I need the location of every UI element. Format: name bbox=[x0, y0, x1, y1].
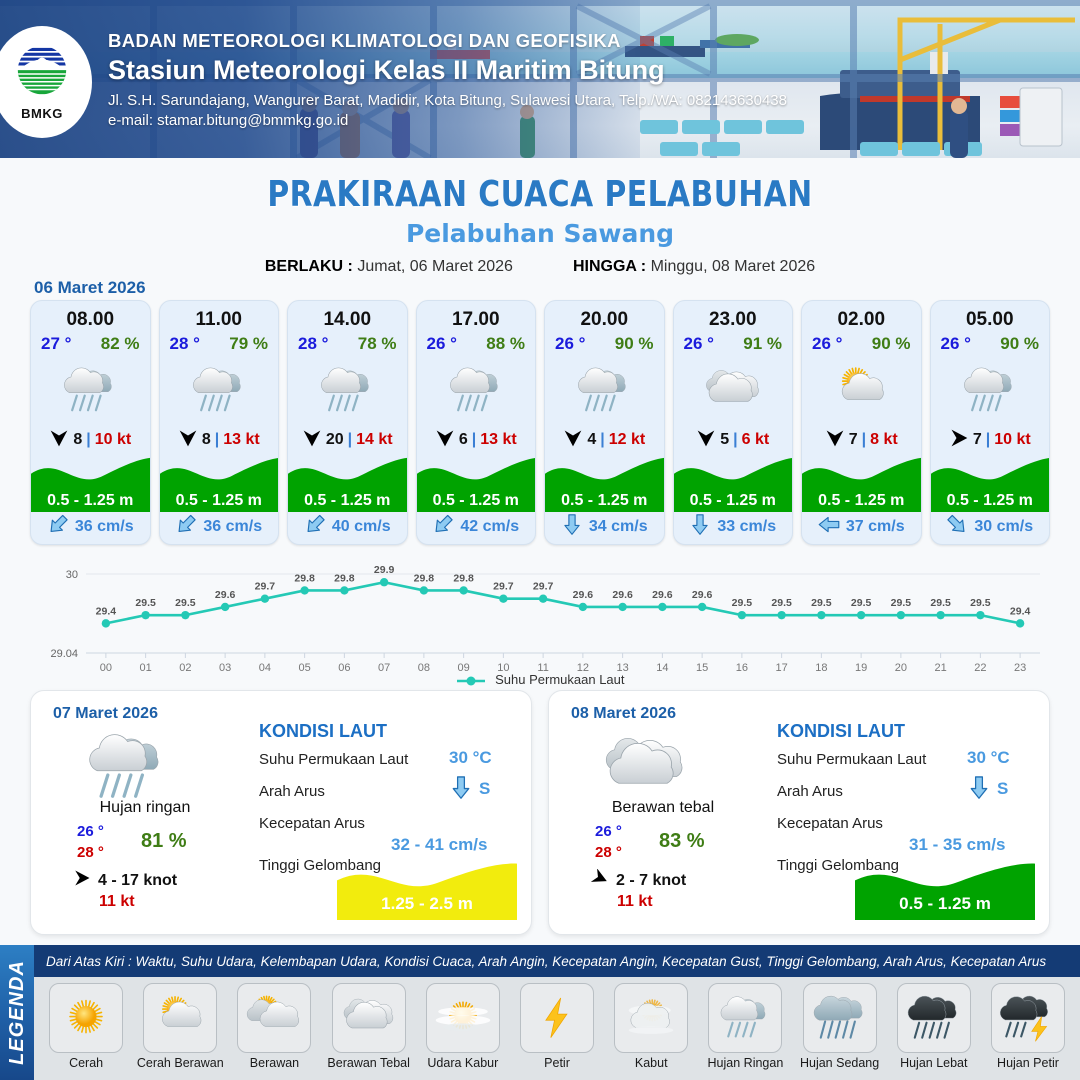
current-direction-arrow-icon bbox=[946, 513, 968, 541]
card-time: 20.00 bbox=[545, 309, 664, 331]
hourly-card: 11.00 28 ° 79 % 8 | 13 kt 0.5 - 1.25 m 3… bbox=[159, 300, 280, 545]
current-direction-arrow-icon bbox=[304, 513, 326, 541]
card-time: 02.00 bbox=[802, 309, 921, 331]
wind-direction-arrow-icon bbox=[73, 869, 91, 892]
card-humidity: 79 % bbox=[229, 334, 268, 354]
card-current-row: 36 cm/s bbox=[160, 512, 279, 542]
card-wind-separator: | bbox=[862, 431, 866, 449]
card-wind-row: 7 | 10 kt bbox=[931, 427, 1050, 453]
svg-text:29.5: 29.5 bbox=[175, 597, 196, 609]
card-temperature: 28 ° bbox=[298, 334, 328, 354]
panel-sst-label: Suhu Permukaan Laut bbox=[259, 751, 408, 768]
card-wave-height: 0.5 - 1.25 m bbox=[31, 492, 150, 510]
card-humidity: 78 % bbox=[358, 334, 397, 354]
card-weather-icon bbox=[802, 356, 921, 424]
svg-text:29.6: 29.6 bbox=[573, 589, 594, 601]
bmkg-logo-mark bbox=[13, 43, 71, 105]
legend-item-label: Kabut bbox=[635, 1056, 668, 1070]
svg-text:29.7: 29.7 bbox=[533, 581, 554, 593]
panel-temp-min: 26 ° bbox=[77, 823, 104, 840]
card-wind-row: 8 | 13 kt bbox=[160, 427, 279, 453]
page-header: BMKG BADAN METEOROLOGI KLIMATOLOGI DAN G… bbox=[0, 0, 1080, 158]
card-current-speed: 37 cm/s bbox=[846, 518, 905, 536]
panel-humidity: 83 % bbox=[659, 830, 705, 853]
hourly-date-label: 06 Maret 2026 bbox=[34, 278, 146, 298]
panel-current-speed-label: Kecepatan Arus bbox=[777, 815, 883, 832]
legend-section: LEGENDA Dari Atas Kiri : Waktu, Suhu Uda… bbox=[0, 945, 1080, 1080]
legend-item-label: Udara Kabur bbox=[427, 1056, 498, 1070]
wind-direction-arrow-icon bbox=[949, 428, 969, 453]
card-temperature: 26 ° bbox=[555, 334, 585, 354]
panel-sea-title: KONDISI LAUT bbox=[777, 721, 905, 742]
card-wave-height: 0.5 - 1.25 m bbox=[545, 492, 664, 510]
card-current-speed: 42 cm/s bbox=[460, 518, 519, 536]
current-direction-arrow-icon bbox=[47, 513, 69, 541]
svg-text:29.8: 29.8 bbox=[294, 572, 315, 584]
berlaku-group: BERLAKU : Jumat, 06 Maret 2026 bbox=[265, 258, 513, 276]
legend-icon-box bbox=[426, 983, 500, 1053]
panel-current-dir-value: S bbox=[479, 779, 490, 799]
card-current-row: 34 cm/s bbox=[545, 512, 664, 542]
legend-icon-box bbox=[897, 983, 971, 1053]
svg-text:29.5: 29.5 bbox=[135, 597, 156, 609]
legend-item-label: Cerah Berawan bbox=[137, 1056, 224, 1070]
panel-gust-speed: 11 kt bbox=[617, 893, 653, 911]
legend-line-icon bbox=[456, 675, 486, 687]
legend-item-label: Berawan bbox=[250, 1056, 299, 1070]
wind-direction-arrow-icon bbox=[591, 869, 609, 892]
card-wave-height: 0.5 - 1.25 m bbox=[417, 492, 536, 510]
svg-text:29.6: 29.6 bbox=[612, 589, 633, 601]
wind-direction-arrow-icon bbox=[696, 428, 716, 453]
legend-icon-box bbox=[614, 983, 688, 1053]
hourly-card: 17.00 26 ° 88 % 6 | 13 kt 0.5 - 1.25 m 4… bbox=[416, 300, 537, 545]
card-time: 23.00 bbox=[674, 309, 793, 331]
card-wave-height: 0.5 - 1.25 m bbox=[802, 492, 921, 510]
svg-text:29.5: 29.5 bbox=[811, 597, 832, 609]
card-wind-direction: 8 bbox=[202, 431, 211, 449]
legend-item-label: Hujan Lebat bbox=[900, 1056, 967, 1070]
card-temperature: 26 ° bbox=[684, 334, 714, 354]
legend-item: Hujan Lebat bbox=[890, 983, 978, 1070]
card-time: 05.00 bbox=[931, 309, 1050, 331]
card-gust-speed: 10 kt bbox=[95, 431, 131, 449]
legend-item: Berawan Tebal bbox=[325, 983, 413, 1070]
card-weather-icon bbox=[545, 356, 664, 424]
chart-legend-label: Suhu Permukaan Laut bbox=[495, 672, 624, 687]
legend-item: Hujan Petir bbox=[984, 983, 1072, 1070]
svg-text:29.5: 29.5 bbox=[970, 597, 991, 609]
wind-direction-arrow-icon bbox=[49, 428, 69, 453]
card-weather-icon bbox=[160, 356, 279, 424]
chart-legend: Suhu Permukaan Laut bbox=[0, 672, 1080, 687]
page-title-block: PRAKIRAAN CUACA PELABUHAN Pelabuhan Sawa… bbox=[0, 174, 1080, 276]
panel-sst-value: 30 °C bbox=[967, 748, 1010, 768]
panel-sst-label: Suhu Permukaan Laut bbox=[777, 751, 926, 768]
card-weather-icon bbox=[417, 356, 536, 424]
card-humidity: 88 % bbox=[486, 334, 525, 354]
card-current-speed: 30 cm/s bbox=[974, 518, 1033, 536]
legend-item: Cerah Berawan bbox=[136, 983, 224, 1070]
card-wind-row: 20 | 14 kt bbox=[288, 427, 407, 453]
card-wind-row: 6 | 13 kt bbox=[417, 427, 536, 453]
card-wind-direction: 8 bbox=[73, 431, 82, 449]
card-temperature: 26 ° bbox=[941, 334, 971, 354]
current-direction-arrow-icon bbox=[432, 513, 454, 541]
card-current-speed: 34 cm/s bbox=[589, 518, 648, 536]
card-wind-separator: | bbox=[472, 431, 476, 449]
panel-sea-title: KONDISI LAUT bbox=[259, 721, 387, 742]
card-humidity: 90 % bbox=[1000, 334, 1039, 354]
legend-item: Kabut bbox=[607, 983, 695, 1070]
card-wind-direction: 6 bbox=[459, 431, 468, 449]
wind-direction-arrow-icon bbox=[435, 428, 455, 453]
legend-item: Berawan bbox=[230, 983, 318, 1070]
panel-current-dir-label: Arah Arus bbox=[259, 783, 325, 800]
card-gust-speed: 13 kt bbox=[480, 431, 516, 449]
svg-text:29.6: 29.6 bbox=[652, 589, 673, 601]
wind-direction-arrow-icon bbox=[302, 428, 322, 453]
svg-text:29.7: 29.7 bbox=[255, 581, 276, 593]
legend-item-label: Cerah bbox=[69, 1056, 103, 1070]
hingga-value: Minggu, 08 Maret 2026 bbox=[651, 258, 816, 275]
card-current-row: 33 cm/s bbox=[674, 512, 793, 542]
card-gust-speed: 8 kt bbox=[870, 431, 898, 449]
hourly-card: 20.00 26 ° 90 % 4 | 12 kt 0.5 - 1.25 m 3… bbox=[544, 300, 665, 545]
legend-item: Petir bbox=[513, 983, 601, 1070]
card-temperature: 26 ° bbox=[812, 334, 842, 354]
berlaku-label: BERLAKU : bbox=[265, 258, 353, 275]
svg-text:29.8: 29.8 bbox=[414, 572, 435, 584]
legend-icon-box bbox=[332, 983, 406, 1053]
card-current-row: 40 cm/s bbox=[288, 512, 407, 542]
panel-temp-min: 26 ° bbox=[595, 823, 622, 840]
legend-item-label: Hujan Ringan bbox=[708, 1056, 784, 1070]
card-time: 08.00 bbox=[31, 309, 150, 331]
svg-text:29.5: 29.5 bbox=[891, 597, 912, 609]
legend-item-label: Hujan Petir bbox=[997, 1056, 1059, 1070]
panel-condition: Hujan ringan bbox=[45, 799, 245, 817]
card-wave-height: 0.5 - 1.25 m bbox=[674, 492, 793, 510]
card-time: 17.00 bbox=[417, 309, 536, 331]
station-address: Jl. S.H. Sarundajang, Wangurer Barat, Ma… bbox=[108, 92, 787, 109]
hourly-card: 08.00 27 ° 82 % 8 | 10 kt 0.5 - 1.25 m 3… bbox=[30, 300, 151, 545]
panel-current-speed-value: 32 - 41 cm/s bbox=[391, 835, 487, 855]
panel-temp-max: 28 ° bbox=[77, 844, 104, 861]
card-wind-separator: | bbox=[215, 431, 219, 449]
hingga-label: HINGGA : bbox=[573, 258, 646, 275]
legend-icon-box bbox=[143, 983, 217, 1053]
card-temperature: 26 ° bbox=[427, 334, 457, 354]
current-direction-arrow-icon bbox=[967, 775, 991, 805]
berlaku-value: Jumat, 06 Maret 2026 bbox=[357, 258, 513, 275]
svg-text:29.5: 29.5 bbox=[930, 597, 951, 609]
station-email: e-mail: stamar.bitung@bmmkg.go.id bbox=[108, 112, 787, 129]
panel-humidity: 81 % bbox=[141, 830, 187, 853]
card-current-speed: 33 cm/s bbox=[717, 518, 776, 536]
card-current-row: 30 cm/s bbox=[931, 512, 1050, 542]
panel-sst-value: 30 °C bbox=[449, 748, 492, 768]
card-gust-speed: 6 kt bbox=[742, 431, 770, 449]
card-wind-row: 8 | 10 kt bbox=[31, 427, 150, 453]
panel-wind-speed: 2 - 7 knot bbox=[616, 872, 686, 890]
svg-text:29.6: 29.6 bbox=[215, 589, 236, 601]
card-wind-row: 5 | 6 kt bbox=[674, 427, 793, 453]
hourly-card: 02.00 26 ° 90 % 7 | 8 kt 0.5 - 1.25 m 37… bbox=[801, 300, 922, 545]
hourly-card: 05.00 26 ° 90 % 7 | 10 kt 0.5 - 1.25 m 3… bbox=[930, 300, 1051, 545]
legend-item-label: Petir bbox=[544, 1056, 570, 1070]
daily-forecast-panel: 08 Maret 2026 Berawan tebal 26 ° 28 ° 83… bbox=[548, 690, 1050, 935]
daily-forecast-panels: 07 Maret 2026 Hujan ringan 26 ° 28 ° 81 … bbox=[30, 690, 1050, 935]
card-gust-speed: 13 kt bbox=[223, 431, 259, 449]
svg-text:29.5: 29.5 bbox=[851, 597, 872, 609]
svg-text:29.5: 29.5 bbox=[771, 597, 792, 609]
panel-current-dir-label: Arah Arus bbox=[777, 783, 843, 800]
current-direction-arrow-icon bbox=[561, 513, 583, 541]
card-humidity: 82 % bbox=[101, 334, 140, 354]
card-weather-icon bbox=[674, 356, 793, 424]
hourly-card: 23.00 26 ° 91 % 5 | 6 kt 0.5 - 1.25 m 33… bbox=[673, 300, 794, 545]
card-wind-direction: 5 bbox=[720, 431, 729, 449]
legend-items: Cerah Cerah Berawan Berawan Berawan Teba… bbox=[34, 977, 1080, 1080]
panel-current-speed-value: 31 - 35 cm/s bbox=[909, 835, 1005, 855]
svg-text:29.4: 29.4 bbox=[96, 605, 117, 617]
card-wave-height: 0.5 - 1.25 m bbox=[931, 492, 1050, 510]
svg-text:29.8: 29.8 bbox=[334, 572, 355, 584]
panel-wind-row: 4 - 17 knot bbox=[73, 869, 177, 892]
hourly-forecast-row: 08.00 27 ° 82 % 8 | 10 kt 0.5 - 1.25 m 3… bbox=[30, 300, 1050, 545]
sst-chart: 3029.0429.40029.50129.50229.60329.70429.… bbox=[28, 556, 1052, 681]
svg-text:29.7: 29.7 bbox=[493, 581, 514, 593]
agency-name: BADAN METEOROLOGI KLIMATOLOGI DAN GEOFIS… bbox=[108, 30, 787, 52]
card-wind-direction: 7 bbox=[973, 431, 982, 449]
panel-wind-speed: 4 - 17 knot bbox=[98, 872, 177, 890]
card-wind-direction: 20 bbox=[326, 431, 344, 449]
card-weather-icon bbox=[31, 356, 150, 424]
card-temperature: 27 ° bbox=[41, 334, 71, 354]
svg-text:29.5: 29.5 bbox=[732, 597, 753, 609]
svg-text:29.8: 29.8 bbox=[453, 572, 474, 584]
wind-direction-arrow-icon bbox=[825, 428, 845, 453]
legend-icon-box bbox=[708, 983, 782, 1053]
card-wind-direction: 7 bbox=[849, 431, 858, 449]
card-current-speed: 36 cm/s bbox=[203, 518, 262, 536]
panel-temp-max: 28 ° bbox=[595, 844, 622, 861]
panel-current-dir-value: S bbox=[997, 779, 1008, 799]
legend-item: Udara Kabur bbox=[419, 983, 507, 1070]
svg-text:29.6: 29.6 bbox=[692, 589, 713, 601]
card-wind-separator: | bbox=[86, 431, 90, 449]
panel-date: 07 Maret 2026 bbox=[53, 705, 158, 723]
panel-wave-value: 0.5 - 1.25 m bbox=[855, 894, 1035, 914]
card-wind-direction: 4 bbox=[587, 431, 596, 449]
current-direction-arrow-icon bbox=[175, 513, 197, 541]
card-wind-separator: | bbox=[733, 431, 737, 449]
page-subtitle: Pelabuhan Sawang bbox=[0, 219, 1080, 248]
legend-side-title: LEGENDA bbox=[0, 945, 34, 1080]
panel-date: 08 Maret 2026 bbox=[571, 705, 676, 723]
panel-wave-value: 1.25 - 2.5 m bbox=[337, 894, 517, 914]
card-gust-speed: 14 kt bbox=[356, 431, 392, 449]
svg-text:30: 30 bbox=[66, 569, 78, 581]
current-direction-arrow-icon bbox=[818, 513, 840, 541]
card-temperature: 28 ° bbox=[170, 334, 200, 354]
current-direction-arrow-icon bbox=[689, 513, 711, 541]
validity-row: BERLAKU : Jumat, 06 Maret 2026 HINGGA : … bbox=[0, 258, 1080, 276]
legend-item: Hujan Sedang bbox=[796, 983, 884, 1070]
legend-icon-box bbox=[520, 983, 594, 1053]
legend-item: Hujan Ringan bbox=[701, 983, 789, 1070]
legend-icon-box bbox=[237, 983, 311, 1053]
station-name: Stasiun Meteorologi Kelas II Maritim Bit… bbox=[108, 55, 787, 86]
svg-text:29.9: 29.9 bbox=[374, 564, 395, 576]
panel-wind-row: 2 - 7 knot bbox=[591, 869, 686, 892]
card-weather-icon bbox=[288, 356, 407, 424]
card-gust-speed: 12 kt bbox=[609, 431, 645, 449]
daily-forecast-panel: 07 Maret 2026 Hujan ringan 26 ° 28 ° 81 … bbox=[30, 690, 532, 935]
svg-text:29.4: 29.4 bbox=[1010, 605, 1031, 617]
card-wave-height: 0.5 - 1.25 m bbox=[288, 492, 407, 510]
card-current-row: 36 cm/s bbox=[31, 512, 150, 542]
card-humidity: 90 % bbox=[872, 334, 911, 354]
card-wind-row: 4 | 12 kt bbox=[545, 427, 664, 453]
page-title: PRAKIRAAN CUACA PELABUHAN bbox=[43, 174, 1037, 215]
current-direction-arrow-icon bbox=[449, 775, 473, 805]
card-humidity: 91 % bbox=[743, 334, 782, 354]
card-current-speed: 36 cm/s bbox=[75, 518, 134, 536]
svg-text:29.04: 29.04 bbox=[50, 648, 78, 660]
legend-item-label: Berawan Tebal bbox=[327, 1056, 409, 1070]
card-wave-height: 0.5 - 1.25 m bbox=[160, 492, 279, 510]
panel-current-speed-label: Kecepatan Arus bbox=[259, 815, 365, 832]
card-humidity: 90 % bbox=[615, 334, 654, 354]
hourly-card: 14.00 28 ° 78 % 20 | 14 kt 0.5 - 1.25 m … bbox=[287, 300, 408, 545]
legend-icon-box bbox=[49, 983, 123, 1053]
wind-direction-arrow-icon bbox=[178, 428, 198, 453]
card-wind-separator: | bbox=[348, 431, 352, 449]
card-wind-row: 7 | 8 kt bbox=[802, 427, 921, 453]
card-current-row: 42 cm/s bbox=[417, 512, 536, 542]
legend-icon-box bbox=[803, 983, 877, 1053]
card-wind-separator: | bbox=[600, 431, 604, 449]
card-current-speed: 40 cm/s bbox=[332, 518, 391, 536]
legend-note: Dari Atas Kiri : Waktu, Suhu Udara, Kele… bbox=[46, 954, 1046, 969]
card-wind-separator: | bbox=[986, 431, 990, 449]
card-weather-icon bbox=[931, 356, 1050, 424]
panel-condition: Berawan tebal bbox=[563, 799, 763, 817]
card-current-row: 37 cm/s bbox=[802, 512, 921, 542]
wind-direction-arrow-icon bbox=[563, 428, 583, 453]
card-time: 14.00 bbox=[288, 309, 407, 331]
card-gust-speed: 10 kt bbox=[994, 431, 1030, 449]
legend-note-bar: Dari Atas Kiri : Waktu, Suhu Udara, Kele… bbox=[34, 945, 1080, 977]
panel-gust-speed: 11 kt bbox=[99, 893, 135, 911]
legend-item: Cerah bbox=[42, 983, 130, 1070]
legend-icon-box bbox=[991, 983, 1065, 1053]
bmkg-logo-text: BMKG bbox=[21, 106, 63, 121]
card-time: 11.00 bbox=[160, 309, 279, 331]
hingga-group: HINGGA : Minggu, 08 Maret 2026 bbox=[573, 258, 815, 276]
legend-item-label: Hujan Sedang bbox=[800, 1056, 879, 1070]
